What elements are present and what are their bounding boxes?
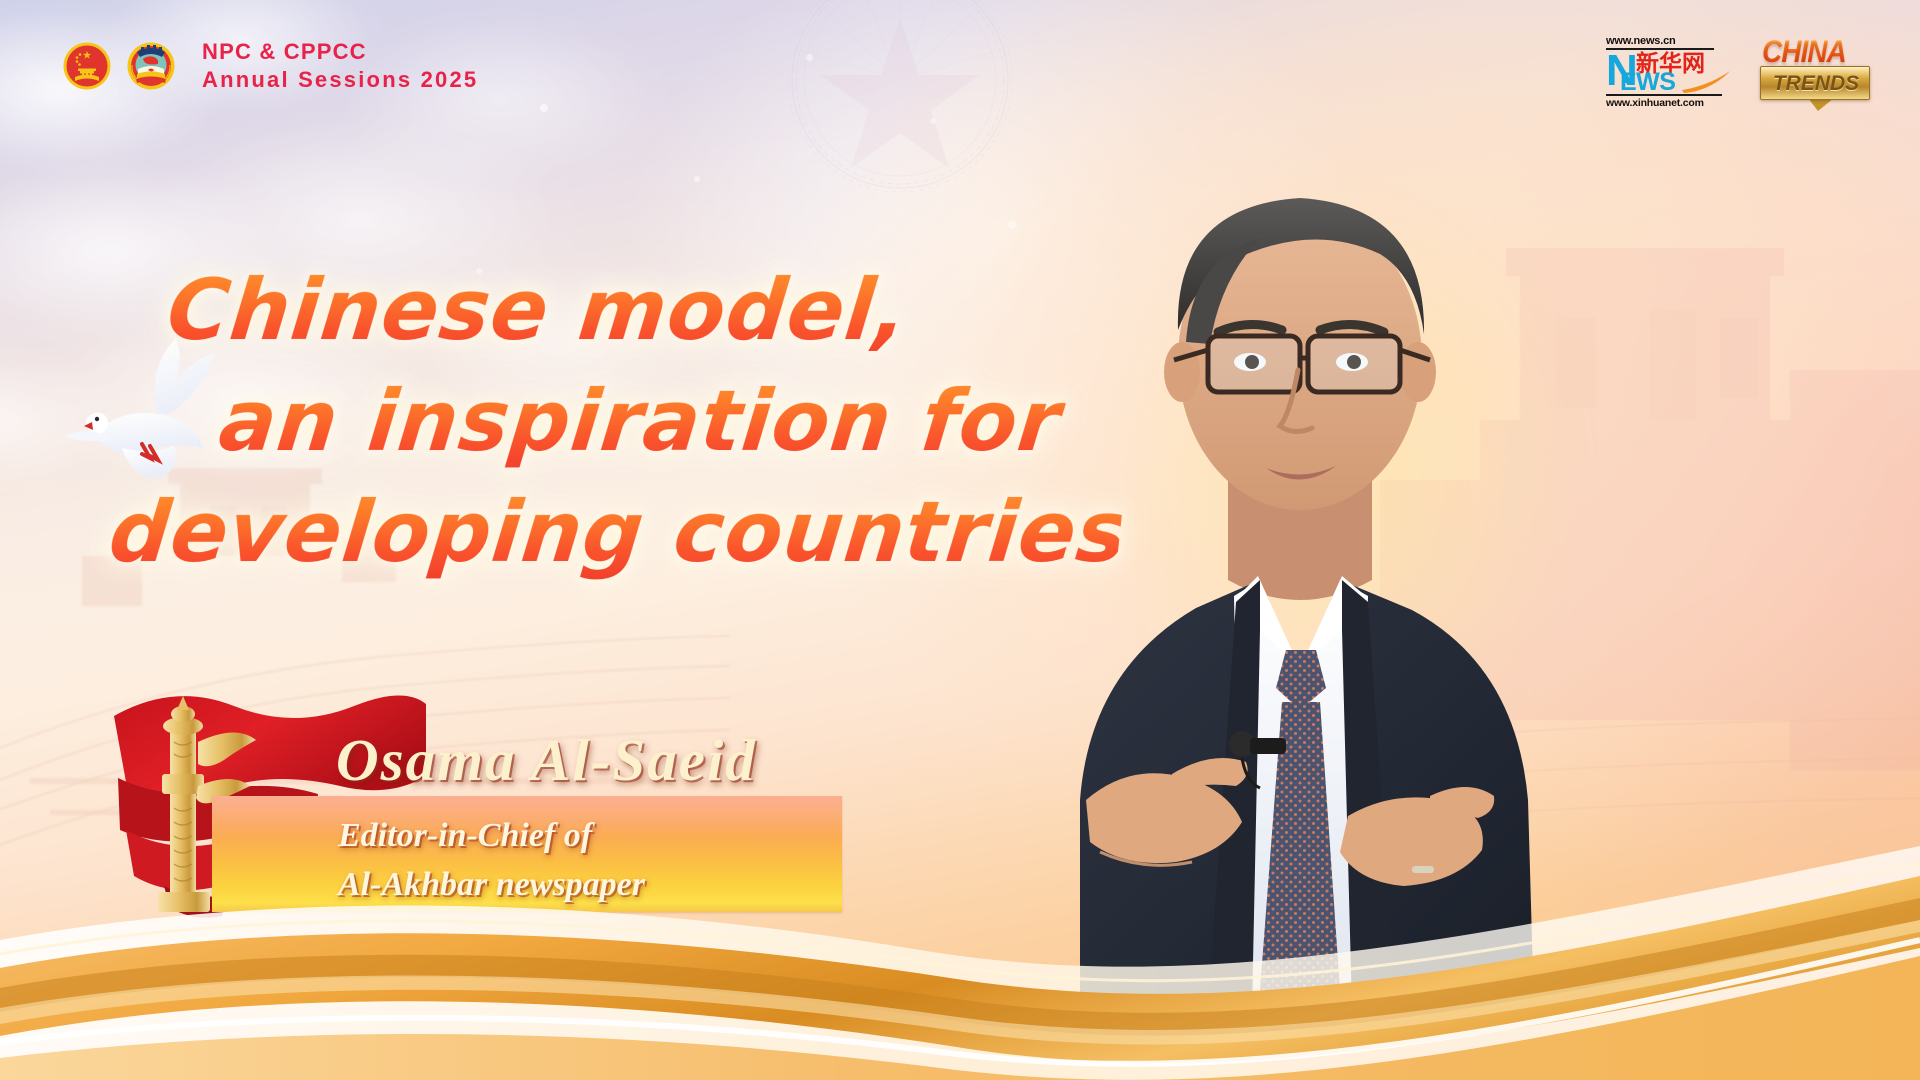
- xinhua-news-text: EWS: [1620, 70, 1675, 95]
- header-line-npc-cppcc: NPC & CPPCC: [202, 38, 478, 66]
- china-trends-plaque: TRENDS: [1760, 66, 1870, 100]
- china-trends-logo[interactable]: CHINA TRENDS: [1756, 36, 1874, 108]
- xinhua-bottom-url: www.xinhuanet.com: [1606, 94, 1722, 109]
- sparkle-dot: [806, 54, 813, 61]
- sparkle-dot: [930, 118, 936, 124]
- xinhua-swoosh-icon: [1680, 70, 1732, 94]
- poster-canvas: NPC & CPPCC Annual Sessions 2025 www.new…: [0, 0, 1920, 1080]
- npc-cppcc-header: NPC & CPPCC Annual Sessions 2025: [62, 38, 478, 94]
- xinhua-mark: N 新华网 EWS: [1606, 50, 1730, 92]
- logo-bar: www.news.cn N 新华网 EWS www.xinhuanet.com …: [1606, 34, 1874, 110]
- header-text-block: NPC & CPPCC Annual Sessions 2025: [202, 38, 478, 94]
- china-national-emblem-icon: [62, 41, 112, 91]
- header-line-sessions: Annual Sessions 2025: [202, 66, 478, 94]
- sparkle-dot: [540, 104, 548, 112]
- cppcc-emblem-icon: [126, 41, 176, 91]
- china-trends-line2: TRENDS: [1761, 67, 1871, 101]
- xinhua-logo[interactable]: www.news.cn N 新华网 EWS www.xinhuanet.com: [1606, 34, 1730, 110]
- china-trends-line1: CHINA: [1762, 36, 1846, 67]
- gold-wave-ribbon: [0, 780, 1920, 1080]
- sparkle-dot: [694, 176, 700, 182]
